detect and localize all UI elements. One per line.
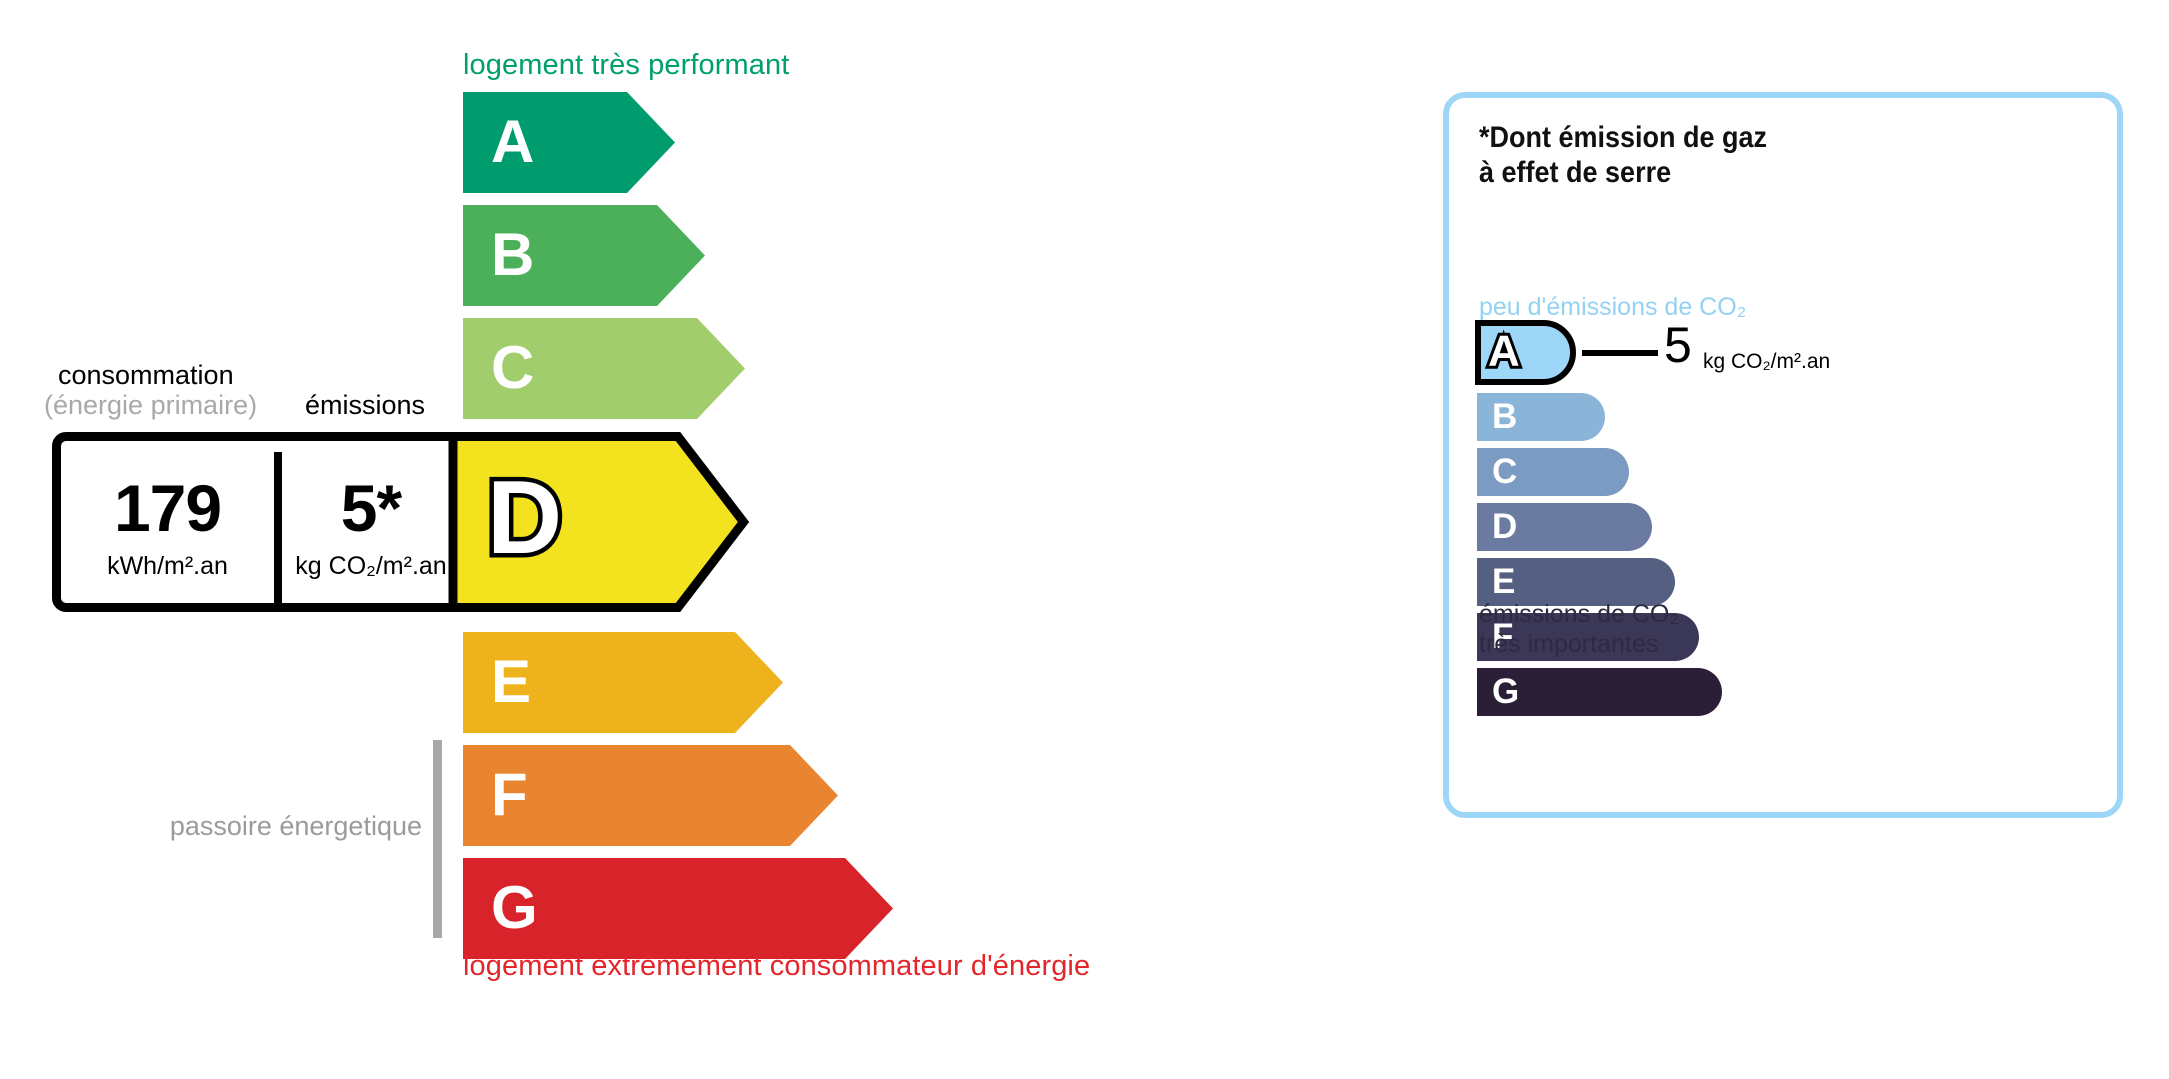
passoire-label: passoire énergetique bbox=[160, 810, 422, 843]
co2-bottom-label: émissions de CO₂ très importantes bbox=[1479, 600, 1679, 659]
co2-letter-d: D bbox=[1492, 509, 1517, 544]
emission-value: 5* bbox=[282, 475, 460, 541]
arrow-letter-e: E bbox=[491, 651, 531, 711]
energy-class-arrow-e: E bbox=[463, 632, 783, 733]
arrow-letter-b: B bbox=[491, 224, 534, 284]
arrow-letter-a: A bbox=[491, 111, 534, 171]
co2-unit: kg CO₂/m².an bbox=[1703, 350, 1830, 374]
co2-a-letter: A bbox=[1488, 329, 1520, 373]
energy-class-arrow-f: F bbox=[463, 745, 838, 846]
consumption-header: consommation bbox=[58, 360, 234, 390]
co2-class-bar-b: B bbox=[1477, 393, 1605, 441]
consumption-unit: kWh/m².an bbox=[61, 554, 274, 579]
co2-letter-c: C bbox=[1492, 454, 1517, 489]
scale-top-label: logement très performant bbox=[463, 49, 789, 82]
co2-class-bar-g: G bbox=[1477, 668, 1722, 716]
co2-class-bar-a: A bbox=[1475, 320, 1576, 385]
co2-emissions-panel: *Dont émission de gaz à effet de serre p… bbox=[1443, 92, 2123, 818]
arrow-letter-c: C bbox=[491, 337, 534, 397]
co2-class-bar-e: E bbox=[1477, 558, 1675, 606]
emission-unit: kg CO₂/m².an bbox=[282, 554, 460, 579]
co2-letter-b: B bbox=[1492, 399, 1517, 434]
energy-performance-scale: logement très performant A B C E F G D 1… bbox=[0, 0, 1400, 1079]
energy-class-arrow-c: C bbox=[463, 318, 745, 419]
co2-class-bar-d: D bbox=[1477, 503, 1652, 551]
energy-class-arrow-a: A bbox=[463, 92, 675, 193]
consumption-value: 179 bbox=[61, 475, 274, 541]
passoire-indicator-bar bbox=[433, 740, 442, 938]
energy-value-box: 179 kWh/m².an 5* kg CO₂/m².an bbox=[52, 432, 469, 612]
arrow-letter-g: G bbox=[491, 877, 538, 937]
energy-class-arrow-g: G bbox=[463, 858, 893, 959]
co2-class-bar-c: C bbox=[1477, 448, 1629, 496]
arrow-letter-d: D bbox=[487, 466, 562, 570]
consumption-value-cell: 179 kWh/m².an bbox=[61, 441, 274, 603]
energy-class-arrow-d: D bbox=[463, 432, 748, 612]
co2-letter-g: G bbox=[1492, 674, 1519, 709]
co2-panel-title: *Dont émission de gaz à effet de serre bbox=[1479, 120, 1767, 190]
scale-bottom-label: logement extrêmement consommateur d'éner… bbox=[463, 950, 1090, 983]
co2-leader-line bbox=[1582, 350, 1658, 356]
value-divider bbox=[274, 452, 282, 604]
consumption-subheader: (énergie primaire) bbox=[44, 390, 257, 420]
energy-class-arrow-b: B bbox=[463, 205, 705, 306]
emissions-header: émissions bbox=[305, 390, 425, 420]
emission-value-cell: 5* kg CO₂/m².an bbox=[282, 441, 460, 603]
co2-top-label: peu d'émissions de CO₂ bbox=[1479, 293, 1746, 322]
arrow-letter-f: F bbox=[491, 764, 528, 824]
co2-letter-e: E bbox=[1492, 564, 1515, 599]
co2-value: 5 bbox=[1664, 320, 1692, 370]
